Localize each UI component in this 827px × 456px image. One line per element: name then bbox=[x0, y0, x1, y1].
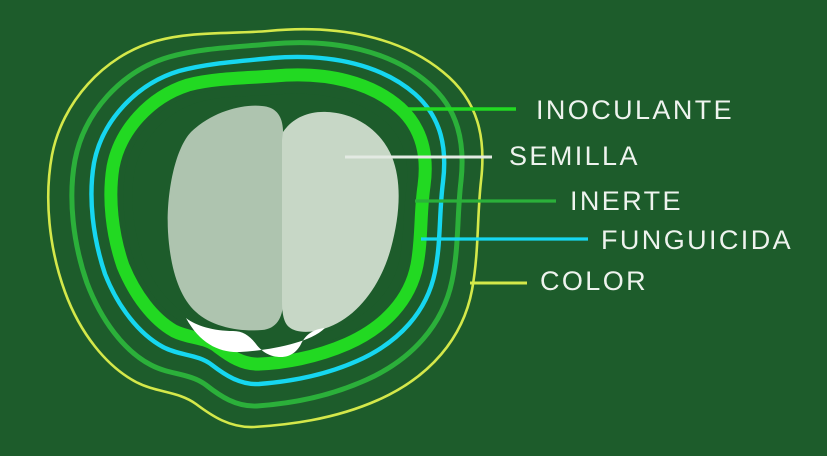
legend-label-color: COLOR bbox=[540, 268, 648, 295]
legend-label-inerte: INERTE bbox=[570, 188, 683, 215]
legend-label-semilla: SEMILLA bbox=[509, 143, 640, 170]
seed-coating-infographic: INOCULANTE SEMILLA INERTE FUNGUICIDA COL… bbox=[0, 0, 827, 456]
legend-label-inoculante: INOCULANTE bbox=[536, 97, 734, 124]
seed-cotyledon-left bbox=[168, 106, 283, 331]
legend-label-funguicida: FUNGUICIDA bbox=[601, 227, 793, 254]
